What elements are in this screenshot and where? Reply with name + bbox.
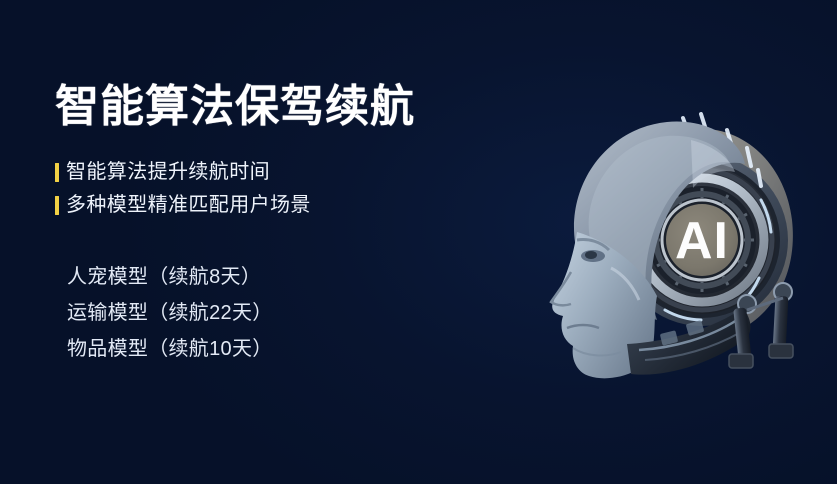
ai-core-label: AI	[675, 212, 729, 270]
list-item: 物品模型（续航10天）	[67, 339, 525, 359]
bullet-item-1: 多种模型精准匹配用户场景	[55, 190, 525, 220]
list-item: 运输模型（续航22天）	[67, 303, 525, 323]
slide-canvas: 智能算法保驾续航 智能算法提升续航时间 多种模型精准匹配用户场景 人宠模型（续航…	[0, 0, 837, 484]
ai-robot-head-image: AI	[515, 92, 825, 392]
list-item: 人宠模型（续航8天）	[67, 267, 525, 287]
page-title: 智能算法保驾续航	[55, 82, 525, 131]
text-column: 智能算法保驾续航 智能算法提升续航时间 多种模型精准匹配用户场景 人宠模型（续航…	[55, 82, 525, 359]
bullet-item-label: 智能算法提升续航时间	[66, 162, 270, 182]
bullet-list: 智能算法提升续航时间 多种模型精准匹配用户场景	[55, 157, 525, 220]
bullet-item-label: 多种模型精准匹配用户场景	[66, 195, 311, 215]
model-list: 人宠模型（续航8天） 运输模型（续航22天） 物品模型（续航10天）	[55, 267, 525, 359]
bar-marker-icon	[55, 196, 59, 215]
bar-marker-icon	[55, 163, 59, 182]
bullet-item-0: 智能算法提升续航时间	[55, 157, 525, 187]
